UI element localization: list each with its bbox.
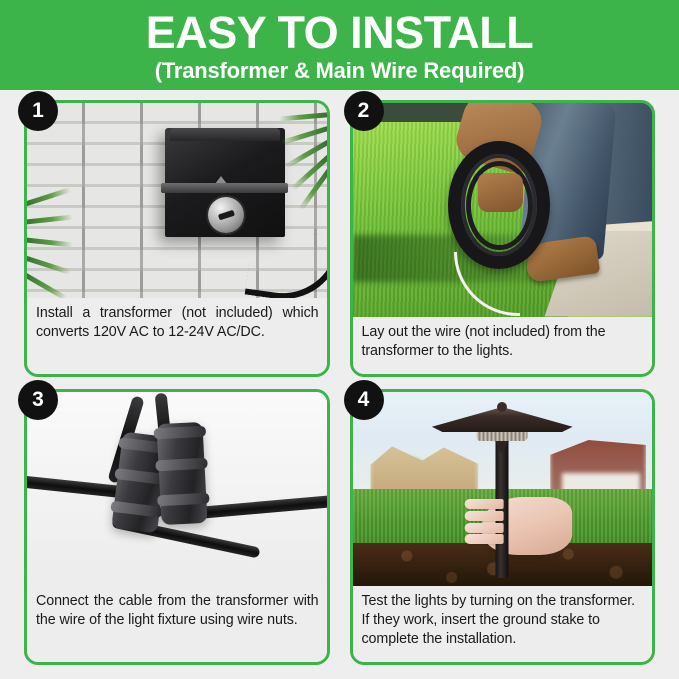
page-subtitle: (Transformer & Main Wire Required) <box>155 58 525 84</box>
step-card-4: 4 Test the lights by turning on the tran… <box>350 389 656 666</box>
step-photo-2 <box>353 103 653 317</box>
step-photo-3 <box>27 392 327 587</box>
step-badge-3: 3 <box>18 380 58 420</box>
step-card-1: 1 <box>24 100 330 377</box>
wire-connector-icon <box>156 421 207 524</box>
header-banner: EASY TO INSTALL (Transformer & Main Wire… <box>0 0 679 90</box>
photo2-hand <box>478 173 523 211</box>
path-light-lens <box>477 431 528 441</box>
step-caption-3: Connect the cable from the transformer w… <box>27 586 327 662</box>
step-photo-4 <box>353 392 653 587</box>
path-light-finial <box>497 402 507 412</box>
step-badge-4: 4 <box>344 380 384 420</box>
transformer-power-cord <box>244 225 326 297</box>
step-caption-1: Install a transformer (not included) whi… <box>27 298 327 374</box>
steps-grid: 1 <box>0 90 679 679</box>
page-title: EASY TO INSTALL <box>146 9 534 57</box>
step-badge-1: 1 <box>18 91 58 131</box>
step-photo-1 <box>27 103 327 298</box>
step-caption-4: Test the lights by turning on the transf… <box>353 586 653 662</box>
step-card-3: 3 Connect the cable from the transformer… <box>24 389 330 666</box>
step-caption-2: Lay out the wire (not included) from the… <box>353 317 653 374</box>
transformer-hood <box>170 128 280 141</box>
transformer-lip <box>161 183 288 193</box>
transformer-icon <box>165 128 285 237</box>
step-badge-2: 2 <box>344 91 384 131</box>
step-card-2: 2 Lay out the wire (not included) from t… <box>350 100 656 377</box>
photo4-fingers <box>465 498 504 545</box>
transformer-dial-icon <box>208 197 244 233</box>
